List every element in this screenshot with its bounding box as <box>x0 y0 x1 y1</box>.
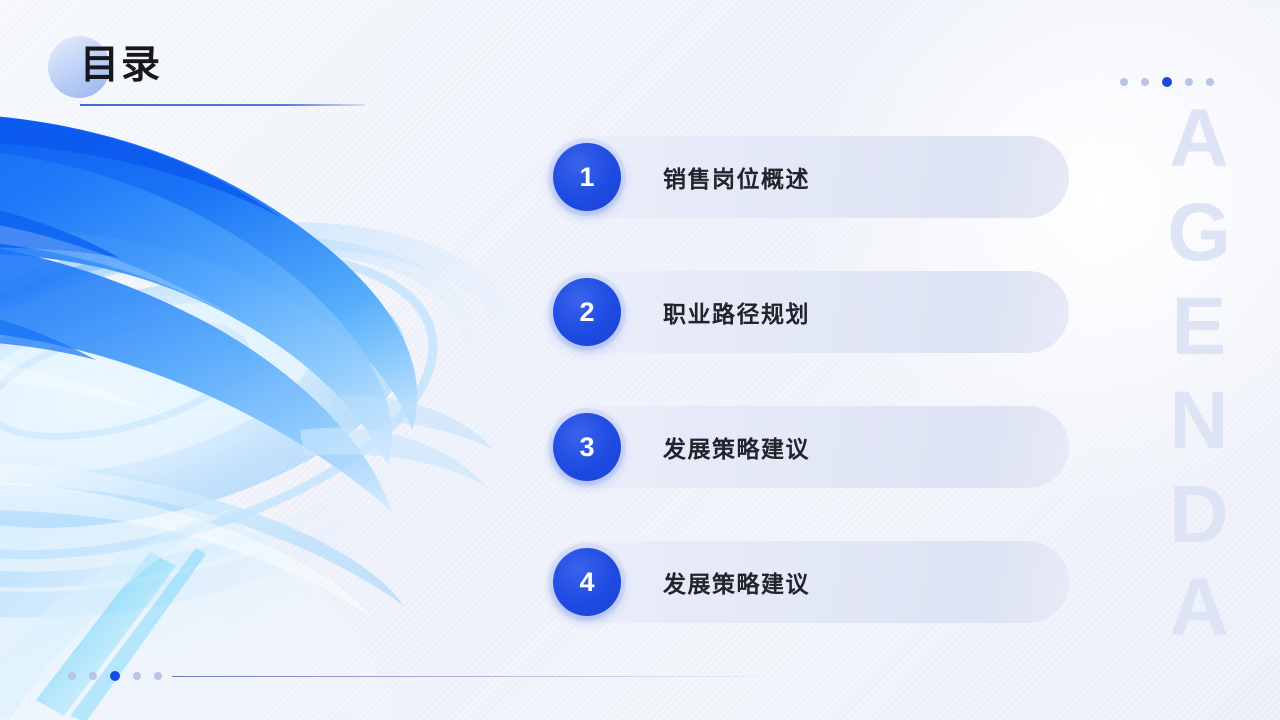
agenda-item-label: 发展策略建议 <box>663 430 810 464</box>
slide-canvas: 目录 A G E N D A 1 销售岗位概述 2 职业路径规划 3 <box>0 0 1280 720</box>
title-underline <box>80 104 365 106</box>
agenda-item-label: 职业路径规划 <box>663 295 810 329</box>
agenda-item-label: 发展策略建议 <box>663 565 810 599</box>
agenda-item-label: 销售岗位概述 <box>663 160 810 194</box>
watermark-letter: D <box>1169 480 1228 551</box>
agenda-item-number-badge: 4 <box>553 548 621 616</box>
pagination-dot-active[interactable] <box>1162 77 1172 87</box>
pagination-dot[interactable] <box>1120 78 1128 86</box>
agenda-item-number-badge: 2 <box>553 278 621 346</box>
pagination-dot[interactable] <box>68 672 76 680</box>
pagination-dots-top[interactable] <box>1120 77 1214 87</box>
agenda-item-number-badge: 1 <box>553 143 621 211</box>
agenda-item[interactable]: 2 职业路径规划 <box>545 271 1069 353</box>
pagination-dot-active[interactable] <box>110 671 120 681</box>
pagination-dot[interactable] <box>1141 78 1149 86</box>
pagination-dot[interactable] <box>1206 78 1214 86</box>
pagination-dot[interactable] <box>89 672 97 680</box>
pagination-dot[interactable] <box>133 672 141 680</box>
watermark-letter: A <box>1169 104 1228 175</box>
watermark-letter: E <box>1172 292 1227 363</box>
pagination-dots-bottom[interactable] <box>68 671 162 681</box>
footer-rule <box>172 676 762 677</box>
agenda-item[interactable]: 1 销售岗位概述 <box>545 136 1069 218</box>
watermark-letter: A <box>1169 573 1228 644</box>
pagination-dot[interactable] <box>154 672 162 680</box>
agenda-item-number-badge: 3 <box>553 413 621 481</box>
agenda-item[interactable]: 3 发展策略建议 <box>545 406 1069 488</box>
watermark-letter: G <box>1167 198 1231 269</box>
watermark-letter: N <box>1169 386 1228 457</box>
page-title: 目录 <box>80 46 162 85</box>
agenda-item[interactable]: 4 发展策略建议 <box>545 541 1069 623</box>
agenda-list: 1 销售岗位概述 2 职业路径规划 3 发展策略建议 4 发展策略建议 <box>545 136 1069 623</box>
agenda-watermark: A G E N D A <box>1144 104 1254 644</box>
slide-title-block: 目录 <box>48 32 408 112</box>
pagination-dot[interactable] <box>1185 78 1193 86</box>
